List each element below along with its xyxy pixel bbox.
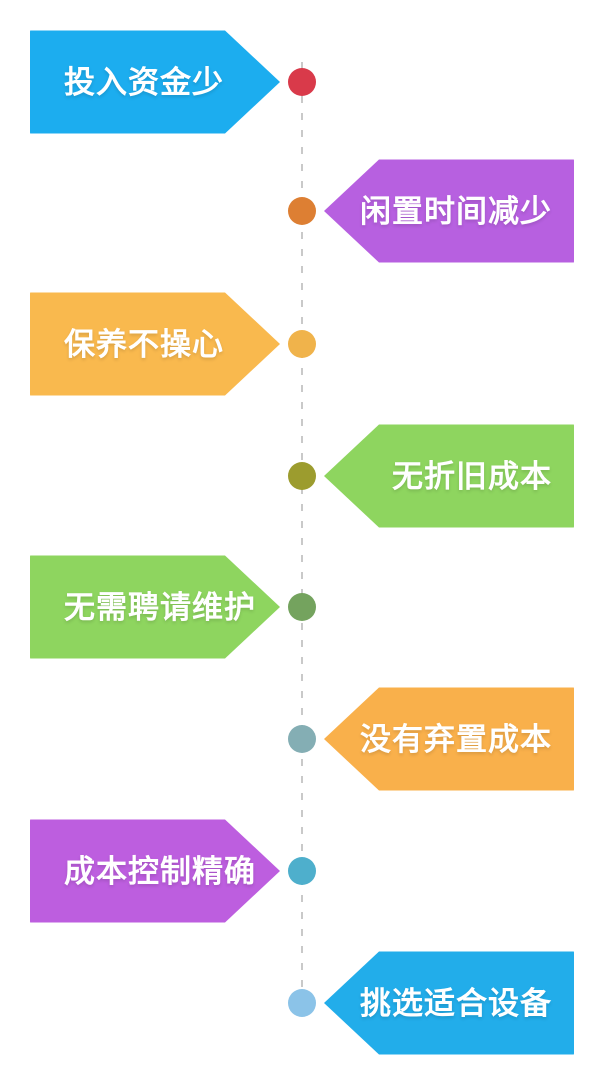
timeline-banner-2[interactable]: 闲置时间减少 (324, 155, 574, 267)
timeline-banner-label-1: 投入资金少 (64, 67, 224, 98)
timeline-banner-8[interactable]: 挑选适合设备 (324, 947, 574, 1059)
timeline-banner-label-4: 无折旧成本 (392, 461, 552, 492)
timeline-dot-sage (288, 593, 316, 621)
timeline-banner-label-8: 挑选适合设备 (360, 988, 552, 1019)
infographic-canvas: 投入资金少 闲置时间减少 保养不操心 无折旧成本 无需聘请维护 没有弃置成本 (0, 0, 603, 1072)
timeline-banner-7[interactable]: 成本控制精确 (30, 815, 280, 927)
timeline-dot-cyan (288, 857, 316, 885)
timeline-banner-1[interactable]: 投入资金少 (30, 26, 280, 138)
timeline-banner-label-3: 保养不操心 (64, 329, 224, 360)
timeline-banner-label-2: 闲置时间减少 (360, 196, 552, 227)
timeline-banner-label-7: 成本控制精确 (64, 856, 256, 887)
timeline-banner-label-5: 无需聘请维护 (64, 592, 256, 623)
timeline-banner-6[interactable]: 没有弃置成本 (324, 683, 574, 795)
timeline-dot-amber (288, 330, 316, 358)
timeline-banner-label-6: 没有弃置成本 (360, 724, 552, 755)
timeline-dot-teal-grey (288, 725, 316, 753)
timeline-dot-olive (288, 462, 316, 490)
timeline-dot-orange (288, 197, 316, 225)
timeline-banner-3[interactable]: 保养不操心 (30, 288, 280, 400)
timeline-dot-red (288, 68, 316, 96)
timeline-dot-light-blue (288, 989, 316, 1017)
timeline-banner-5[interactable]: 无需聘请维护 (30, 551, 280, 663)
timeline-banner-4[interactable]: 无折旧成本 (324, 420, 574, 532)
